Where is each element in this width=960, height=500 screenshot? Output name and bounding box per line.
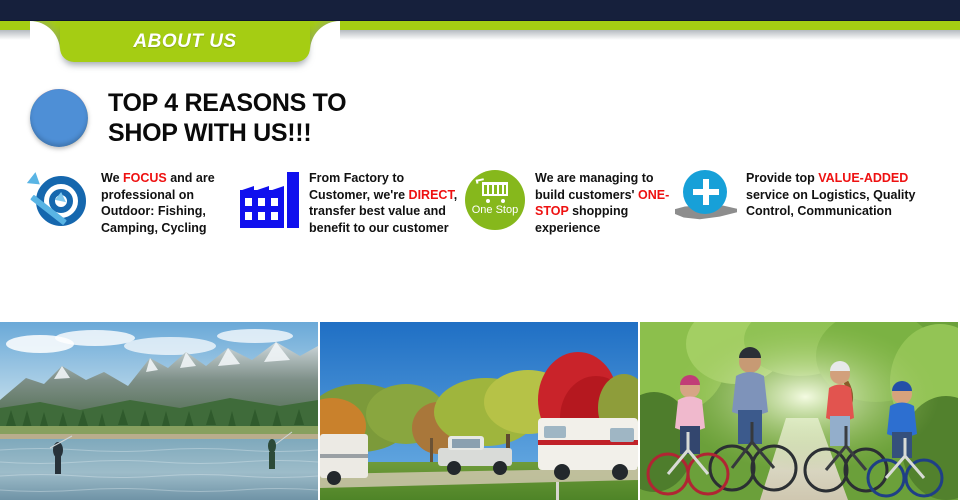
chrome-blue-center xyxy=(30,89,88,147)
photo-strip xyxy=(0,322,960,500)
factory-window xyxy=(258,212,265,220)
headline-row: TOP 4 REASONS TO SHOP WITH US!!! xyxy=(30,84,530,152)
factory-window xyxy=(245,198,252,206)
feature-highlight-word: VALUE-ADDED xyxy=(818,171,908,185)
about-us-tab-label: ABOUT US xyxy=(60,21,310,62)
factory-window xyxy=(245,212,252,220)
feature-text-value-added: Provide top VALUE-ADDED service on Logis… xyxy=(746,170,930,220)
about-us-tab[interactable]: ABOUT US xyxy=(30,21,340,68)
factory-window xyxy=(271,198,278,206)
plus-in-hand-icon xyxy=(675,170,737,232)
tab-corner-left xyxy=(30,21,60,51)
feature-item-direct: From Factory to Customer, we're DIRECT, … xyxy=(240,170,465,290)
cart-basket xyxy=(482,182,508,196)
page-title: TOP 4 REASONS TO SHOP WITH US!!! xyxy=(108,88,346,149)
cart-wheel xyxy=(501,199,505,203)
cart-bar xyxy=(497,185,499,195)
cart-bar xyxy=(492,185,494,195)
factory-icon xyxy=(240,170,300,232)
photo-family-cycling-trail xyxy=(640,322,958,500)
page-title-line2: SHOP WITH US!!! xyxy=(108,118,346,149)
feature-item-value-added: Provide top VALUE-ADDED service on Logis… xyxy=(675,170,930,290)
photo-rv-campground-autumn xyxy=(320,322,638,500)
feature-list: We FOCUS and are professional on Outdoor… xyxy=(30,170,930,290)
factory-body xyxy=(240,190,284,228)
cart-bar xyxy=(487,185,489,195)
target-bullseye-icon xyxy=(30,170,92,232)
one-stop-label: One Stop xyxy=(465,204,525,216)
feature-text-one-stop: We are managing to build customers' ONE-… xyxy=(535,170,675,236)
feature-plain-text: Provide top xyxy=(746,171,818,185)
feature-text-direct: From Factory to Customer, we're DIRECT, … xyxy=(309,170,465,236)
top-navy-bar xyxy=(0,0,960,21)
feature-plain-text: From Factory to Customer, we're xyxy=(309,171,409,202)
photo-fly-fishing-river-mountains xyxy=(0,322,318,500)
factory-window xyxy=(271,212,278,220)
page-title-line1: TOP 4 REASONS TO xyxy=(108,88,346,119)
feature-plain-text: service on Logistics, Quality Control, C… xyxy=(746,188,916,219)
feature-item-focus: We FOCUS and are professional on Outdoor… xyxy=(30,170,240,290)
shopping-cart-one-stop-icon: One Stop xyxy=(465,170,525,230)
feature-plain-text: We xyxy=(101,171,123,185)
chrome-logo-icon xyxy=(30,89,88,147)
feature-text-focus: We FOCUS and are professional on Outdoor… xyxy=(101,170,240,236)
feature-item-one-stop: One Stop We are managing to build custom… xyxy=(465,170,675,290)
cart-bar xyxy=(502,185,504,195)
cart-wheel xyxy=(486,199,490,203)
about-us-page: ABOUT US TOP 4 REASONS TO SHOP WITH US!!… xyxy=(0,0,960,500)
plus-horizontal-bar xyxy=(693,189,719,195)
feature-highlight-word: FOCUS xyxy=(123,171,167,185)
factory-window xyxy=(258,198,265,206)
feature-plain-text: We are managing to build customers' xyxy=(535,171,654,202)
tab-corner-right xyxy=(310,21,340,51)
feature-highlight-word: DIRECT xyxy=(409,188,454,202)
factory-chimney xyxy=(287,172,299,228)
